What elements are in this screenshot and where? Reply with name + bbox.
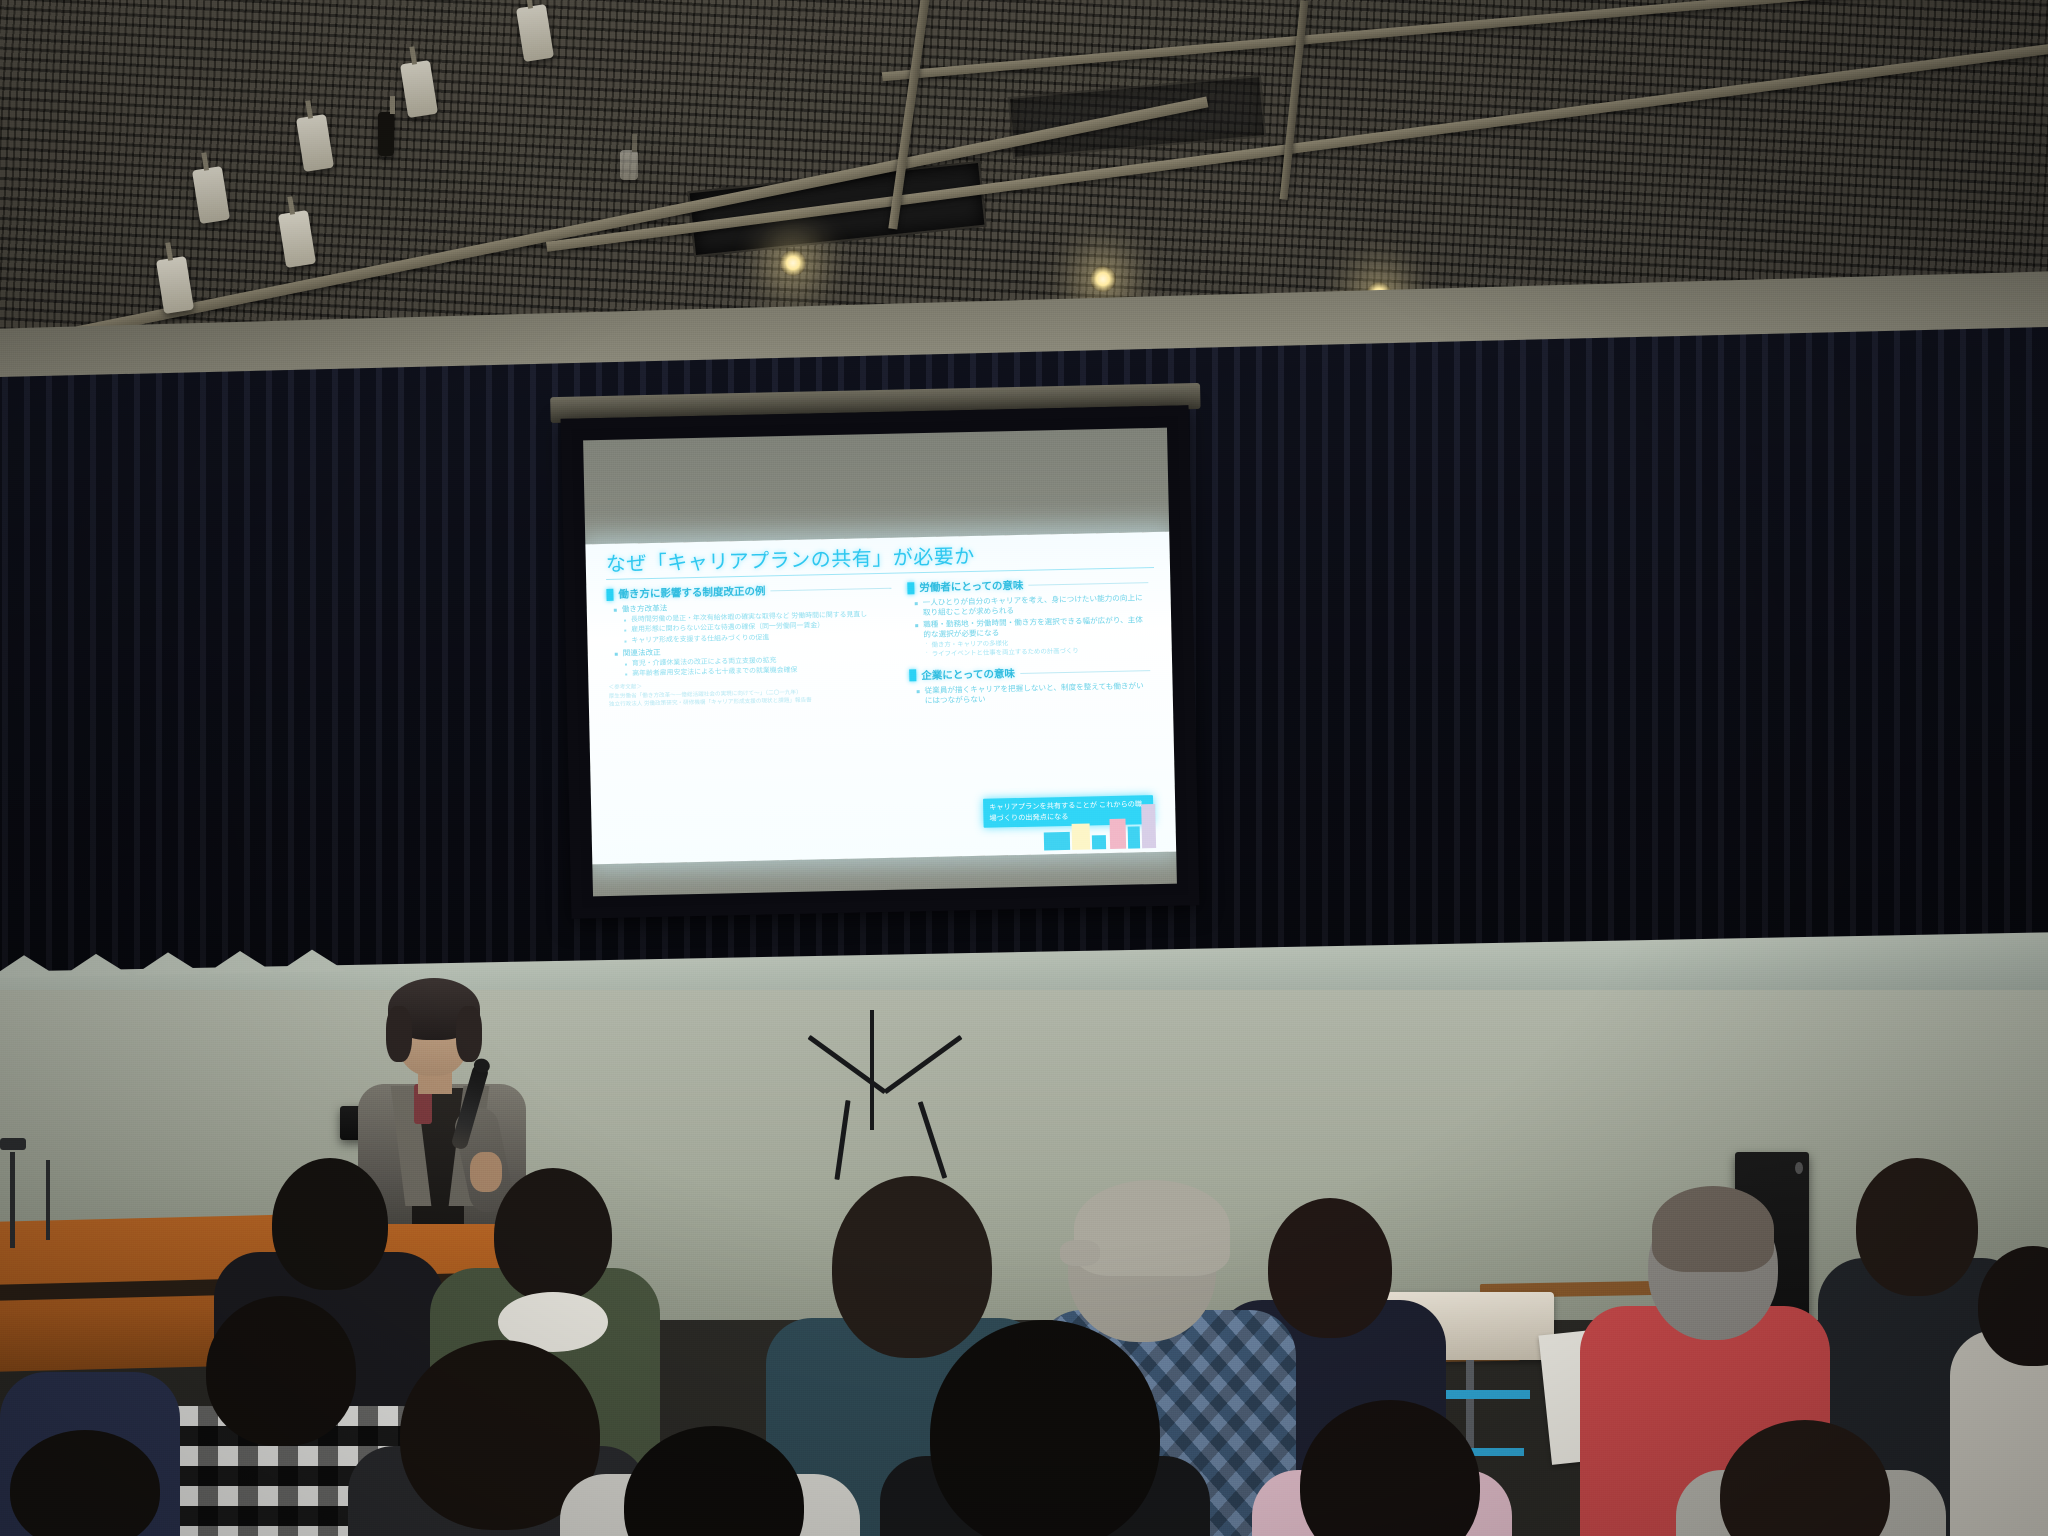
list-item (1856, 1158, 1978, 1296)
list-item: 職種・勤務地・労働時間・働き方を選択できる幅が広がり、主体的な選択が必要になる (915, 615, 1149, 640)
list-item (494, 1168, 612, 1302)
projection-screen: なぜ「キャリアプランの共有」が必要か 働き方に影響する制度改正の例 (561, 405, 1200, 919)
spotlight-icon (378, 112, 394, 156)
left-sublist: 育児・介護休業法の改正による両立支援の拡充 高年齢者雇用安定法による七十歳までの… (615, 655, 893, 680)
list-item (1268, 1198, 1392, 1338)
left-bullet-list: 働き方改革法 長時間労働の是正・年次有給休暇の確実な取得など 労働時間に関する見… (607, 599, 894, 681)
right-sublist-1: 働き方・キャリアの多様化 ライフイベントと仕事を両立するための計画づくり (916, 637, 1150, 660)
right-section-header-1: 労働者にとっての意味 (907, 575, 1148, 595)
projected-slide: なぜ「キャリアプランの共有」が必要か 働き方に影響する制度改正の例 (585, 532, 1176, 865)
spotlight-icon (620, 150, 638, 180)
mic-stand (46, 1160, 50, 1240)
ceiling-lamp-icon (780, 250, 806, 276)
list-item (930, 1320, 1160, 1536)
screen-surface: なぜ「キャリアプランの共有」が必要か 働き方に影響する制度改正の例 (583, 428, 1177, 897)
list-item (206, 1296, 356, 1446)
seminar-photo: なぜ「キャリアプランの共有」が必要か 働き方に影響する制度改正の例 (0, 0, 2048, 1536)
city-skyline-graphic (1037, 798, 1158, 851)
section-chip-icon (606, 588, 613, 600)
presenter-hair (456, 1006, 482, 1062)
section-chip-icon (909, 669, 916, 681)
section-rule (1020, 670, 1150, 674)
right-section-title-2: 企業にとっての意味 (921, 666, 1015, 683)
section-rule (770, 588, 891, 592)
mic-stand-head (0, 1138, 26, 1150)
list-item (1074, 1180, 1230, 1276)
slide-footnote: ＜参考文献＞ 厚生労働省「働き方改革～一億総活躍社会の実現に向けて～」（二〇一九… (608, 679, 893, 710)
list-item (1652, 1186, 1774, 1272)
left-section-title: 働き方に影響する制度改正の例 (618, 583, 765, 601)
list-item: 一人ひとりが自分のキャリアを考え、身につけたい能力の向上に取り組むことが求められ… (915, 593, 1149, 618)
section-chip-icon (907, 582, 914, 594)
list-item: 従業員が描くキャリアを把握しないと、制度を整えても働きがいにはつながらない (916, 681, 1150, 706)
presenter-hand (470, 1152, 502, 1192)
right-section-header-2: 企業にとっての意味 (909, 663, 1150, 683)
list-item (832, 1176, 992, 1358)
list-item (272, 1158, 388, 1290)
section-rule (1028, 582, 1148, 586)
presenter-hair (386, 1006, 412, 1062)
right-bullet-list-1: 一人ひとりが自分のキャリアを考え、身につけたい能力の向上に取り組むことが求められ… (908, 593, 1150, 660)
slide-title: なぜ「キャリアプランの共有」が必要か (606, 542, 1154, 576)
mic-stand (10, 1152, 15, 1248)
left-sublist: 長時間労働の是正・年次有給休暇の確実な取得など 労働時間に関する見直し 雇用形態… (614, 611, 893, 647)
right-bullet-list-2: 従業員が描くキャリアを把握しないと、制度を整えても働きがいにはつながらない (909, 681, 1150, 706)
right-section-title-1: 労働者にとっての意味 (919, 578, 1023, 595)
ceiling-lamp-icon (1090, 266, 1116, 292)
slide-left-column: 働き方に影響する制度改正の例 働き方改革法 長時間労働の是正・年次有給休暇の確実… (606, 581, 894, 717)
slide-right-column: 労働者にとっての意味 一人ひとりが自分のキャリアを考え、身につけたい能力の向上に… (907, 575, 1151, 710)
screen-tripod-post (870, 1010, 874, 1130)
list-item (1060, 1240, 1100, 1266)
screen-frame: なぜ「キャリアプランの共有」が必要か 働き方に影響する制度改正の例 (561, 405, 1200, 919)
